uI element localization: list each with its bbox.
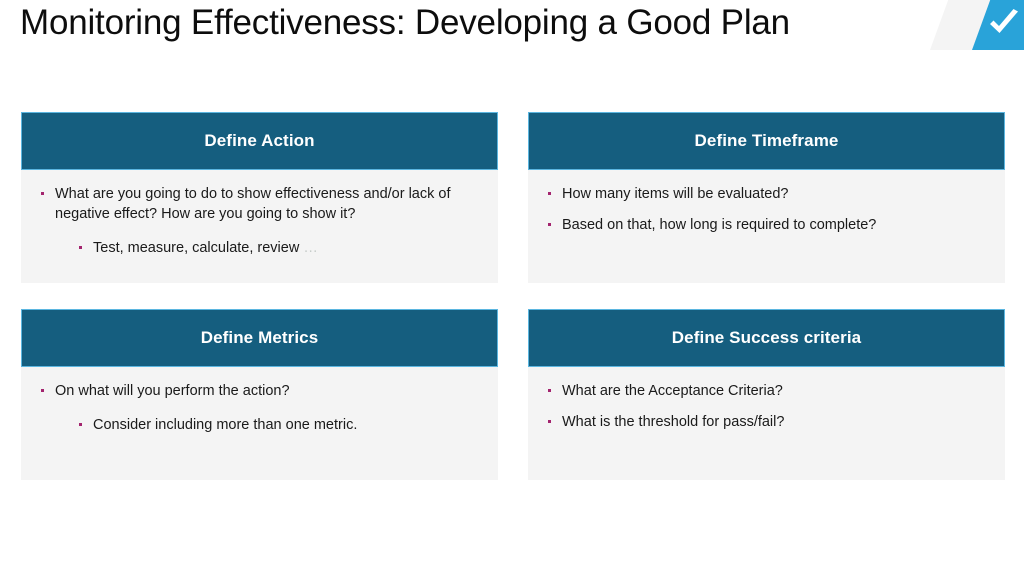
card-body-define-action: What are you going to do to show effecti… — [21, 170, 498, 283]
card-body-define-success-criteria: What are the Acceptance Criteria? What i… — [528, 367, 1005, 480]
list-item: What is the threshold for pass/fail? — [544, 412, 989, 432]
card-grid: Define Action What are you going to do t… — [21, 112, 1005, 480]
bullet-text: What are the Acceptance Criteria? — [562, 383, 783, 399]
bullet-text: What are you going to do to show effecti… — [55, 186, 451, 222]
list-item: Consider including more than one metric. — [37, 415, 482, 435]
brand-logo — [930, 0, 1024, 50]
checkmark-icon — [987, 9, 1021, 39]
list-item: Based on that, how long is required to c… — [544, 215, 989, 235]
card-title: Define Timeframe — [695, 131, 839, 151]
card-header-define-action: Define Action — [21, 112, 498, 170]
card-define-success-criteria: Define Success criteria What are the Acc… — [528, 309, 1005, 480]
card-header-define-success-criteria: Define Success criteria — [528, 309, 1005, 367]
bullet-text: Based on that, how long is required to c… — [562, 217, 876, 233]
card-define-action: Define Action What are you going to do t… — [21, 112, 498, 283]
card-title: Define Metrics — [201, 328, 319, 348]
bullet-text: On what will you perform the action? — [55, 383, 290, 399]
bullet-text: Consider including more than one metric. — [93, 417, 357, 433]
card-define-metrics: Define Metrics On what will you perform … — [21, 309, 498, 480]
card-header-define-timeframe: Define Timeframe — [528, 112, 1005, 170]
bullet-list: How many items will be evaluated? Based … — [544, 184, 989, 235]
card-title: Define Action — [204, 131, 314, 151]
card-title: Define Success criteria — [672, 328, 861, 348]
bullet-text: Test, measure, calculate, review — [93, 240, 299, 256]
bullet-text: What is the threshold for pass/fail? — [562, 414, 784, 430]
card-body-define-metrics: On what will you perform the action? Con… — [21, 367, 498, 480]
list-item: On what will you perform the action? — [37, 381, 482, 401]
bullet-list: What are you going to do to show effecti… — [37, 184, 482, 258]
card-header-define-metrics: Define Metrics — [21, 309, 498, 367]
page-title: Monitoring Effectiveness: Developing a G… — [20, 1, 790, 45]
card-define-timeframe: Define Timeframe How many items will be … — [528, 112, 1005, 283]
list-item: How many items will be evaluated? — [544, 184, 989, 204]
bullet-trailing-ellipsis: … — [303, 240, 318, 256]
list-item: What are the Acceptance Criteria? — [544, 381, 989, 401]
bullet-text: How many items will be evaluated? — [562, 186, 788, 202]
bullet-list: What are the Acceptance Criteria? What i… — [544, 381, 989, 432]
list-item: What are you going to do to show effecti… — [37, 184, 482, 224]
bullet-list: On what will you perform the action? Con… — [37, 381, 482, 435]
card-body-define-timeframe: How many items will be evaluated? Based … — [528, 170, 1005, 283]
list-item: Test, measure, calculate, review … — [37, 238, 482, 258]
